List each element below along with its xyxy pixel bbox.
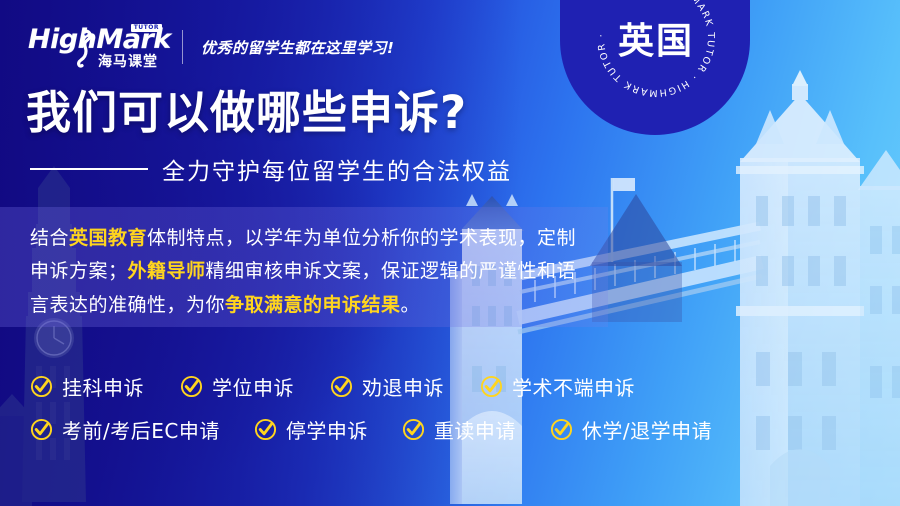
feature-row-1: 挂科申诉 学位申诉 劝退申诉 [30, 372, 870, 401]
check-circle-icon [480, 375, 503, 398]
feature-list: 挂科申诉 学位申诉 劝退申诉 [30, 372, 870, 458]
brand-tagline: 优秀的留学生都在这里学习! [201, 37, 394, 58]
body-highlight-3: 争取满意的申诉结果 [225, 294, 401, 316]
promo-banner: HIGHMARK TUTOR · HIGHMARK TUTOR · 英国 Hig… [0, 0, 900, 506]
feature-label: 学术不端申诉 [512, 372, 635, 401]
body-highlight-2: 外籍导师 [128, 260, 206, 282]
body-highlight-1: 英国教育 [69, 227, 147, 249]
feature-label: 休学/退学申请 [582, 415, 712, 444]
check-circle-icon [30, 375, 53, 398]
body-seg-4: 。 [401, 294, 421, 316]
subtitle-row: 全力守护每位留学生的合法权益 [30, 152, 512, 186]
feature-item[interactable]: 劝退申诉 [330, 372, 444, 401]
feature-label: 学位申诉 [212, 372, 294, 401]
feature-item[interactable]: 停学申诉 [254, 415, 368, 444]
body-paragraph: 结合英国教育体制特点，以学年为单位分析你的学术表现，定制申诉方案；外籍导师精细审… [30, 222, 590, 322]
check-circle-icon [30, 418, 53, 441]
feature-label: 挂科申诉 [62, 372, 144, 401]
logo-divider [182, 30, 183, 64]
feature-item[interactable]: 考前/考后EC申请 [30, 415, 220, 444]
logo-chinese-name: 海马课堂 [98, 51, 158, 71]
check-circle-icon [330, 375, 353, 398]
check-circle-icon [180, 375, 203, 398]
subtitle-text: 全力守护每位留学生的合法权益 [162, 152, 512, 186]
seahorse-icon [72, 28, 94, 68]
subtitle-rule [30, 168, 148, 170]
feature-row-2: 考前/考后EC申请 停学申诉 重读申请 [30, 415, 870, 444]
check-circle-icon [254, 418, 277, 441]
feature-label: 劝退申诉 [362, 372, 444, 401]
feature-item[interactable]: 重读申请 [402, 415, 516, 444]
page-title: 我们可以做哪些申诉? [26, 88, 467, 138]
feature-label: 重读申请 [434, 415, 516, 444]
feature-item[interactable]: 挂科申诉 [30, 372, 144, 401]
body-seg-1: 结合 [30, 227, 69, 249]
badge-country-label: 英国 [588, 0, 724, 106]
check-circle-icon [402, 418, 425, 441]
logo-tutor-tag: TUTOR [131, 24, 162, 32]
feature-label: 停学申诉 [286, 415, 368, 444]
check-circle-icon [550, 418, 573, 441]
feature-item[interactable]: 学位申诉 [180, 372, 294, 401]
feature-item[interactable]: 学术不端申诉 [480, 372, 635, 401]
brand-logo[interactable]: HighMark TUTOR 海马课堂 优秀的留学生都在这里学习! [28, 24, 394, 70]
feature-item[interactable]: 休学/退学申请 [550, 415, 712, 444]
logo-mark: HighMark TUTOR 海马课堂 [28, 24, 160, 70]
feature-label: 考前/考后EC申请 [62, 415, 220, 444]
